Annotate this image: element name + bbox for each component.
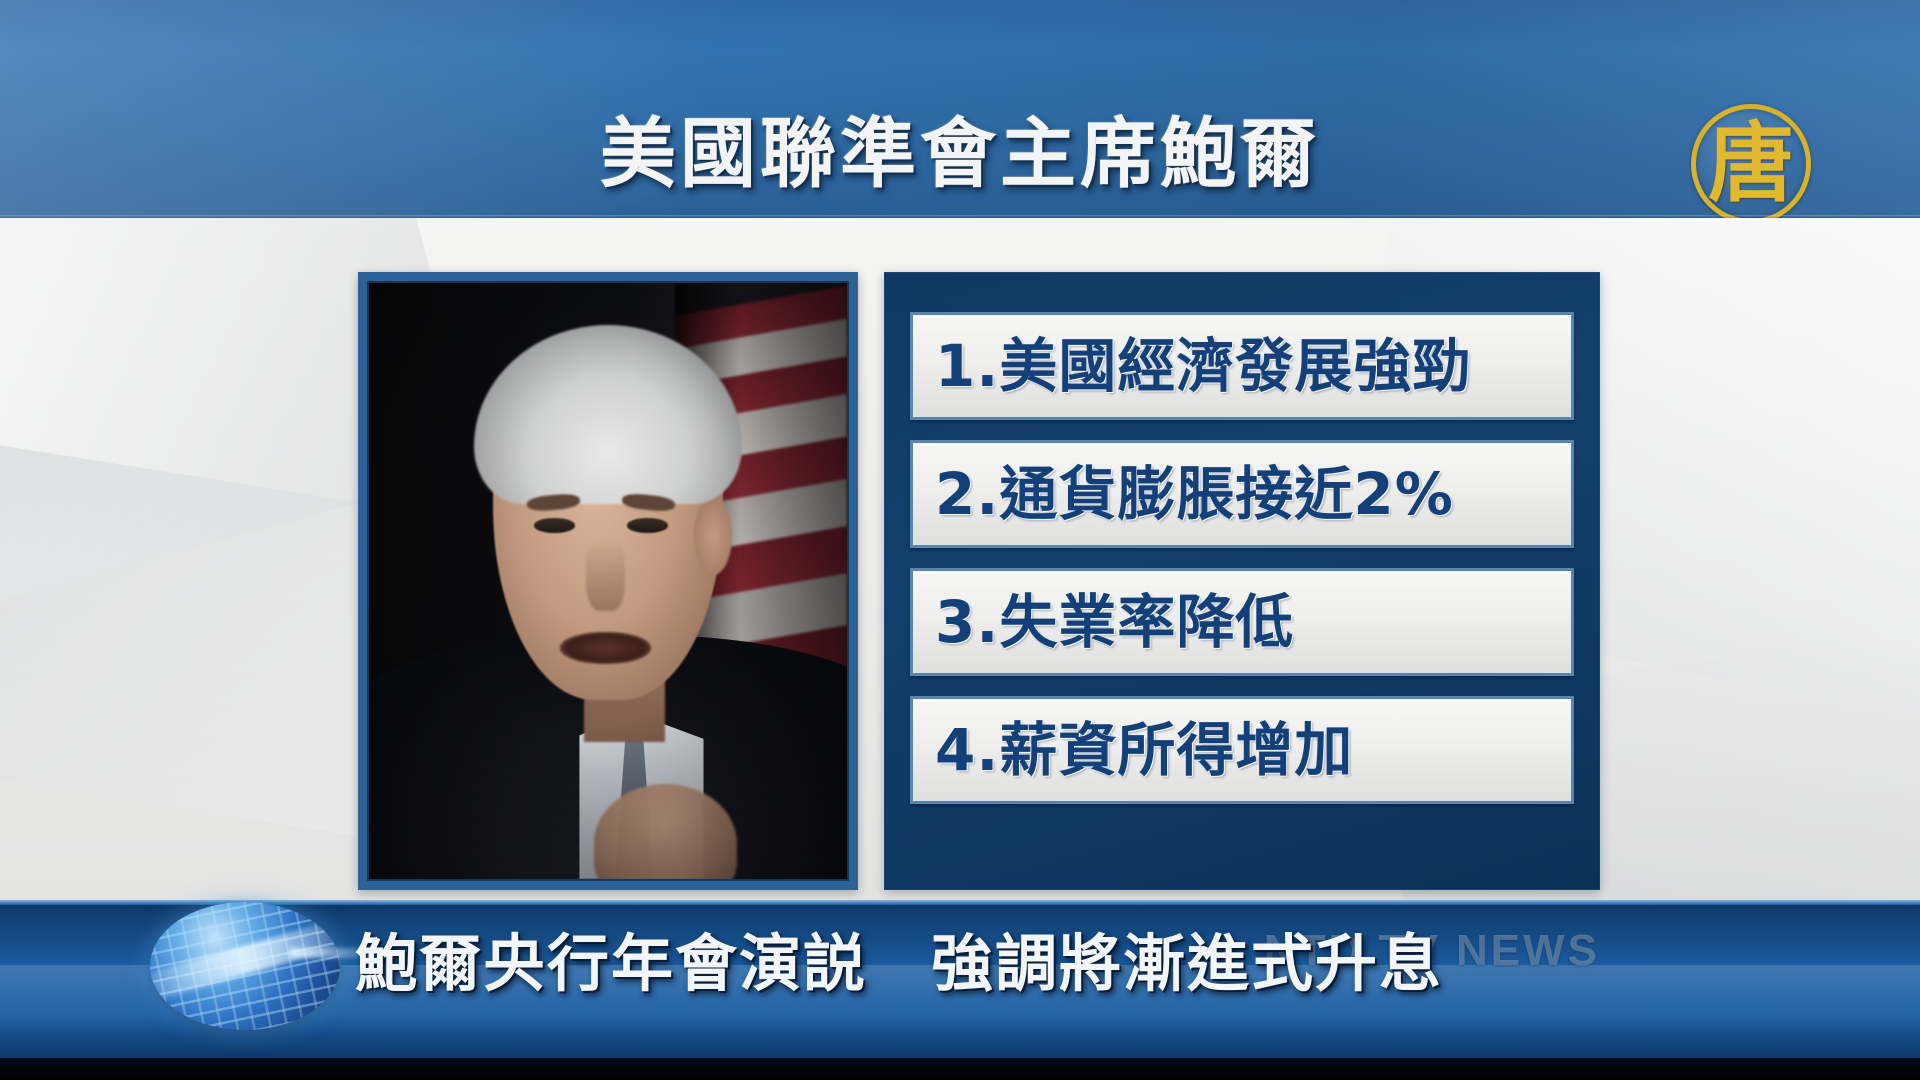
list-item-label: 3.失業率降低 [913, 593, 1294, 651]
list-item: 3.失業率降低 [910, 568, 1574, 676]
bullet-panel: 1.美國經濟發展強勁 2.通貨膨脹接近2% 3.失業率降低 4.薪資所得增加 [884, 272, 1600, 890]
list-item-label: 1.美國經濟發展強勁 [913, 337, 1471, 395]
page-title: 美國聯準會主席鮑爾 [0, 92, 1920, 202]
list-item: 4.薪資所得增加 [910, 696, 1574, 804]
header-band: 美國聯準會主席鮑爾 唐 新唐人 電視台 [0, 0, 1920, 218]
portrait-photo [367, 281, 849, 881]
broadcast-stage: 美國聯準會主席鮑爾 唐 新唐人 電視台 [0, 0, 1920, 1080]
list-item: 2.通貨膨脹接近2% [910, 440, 1574, 548]
lower-third-bar: NTD TV NEWS 鮑爾央行年會演説 強調將漸進式升息 [0, 900, 1920, 1080]
list-item-label: 4.薪資所得增加 [913, 721, 1353, 779]
list-item-label: 2.通貨膨脹接近2% [913, 465, 1454, 523]
lower-third-bottom-edge [0, 1058, 1920, 1080]
ticker-headline: 鮑爾央行年會演説 強調將漸進式升息 [355, 916, 1615, 1012]
lower-third-top-edge [0, 900, 1920, 905]
portrait-frame [358, 272, 858, 890]
photo-vignette [369, 283, 847, 879]
list-item: 1.美國經濟發展強勁 [910, 312, 1574, 420]
bullet-list: 1.美國經濟發展強勁 2.通貨膨脹接近2% 3.失業率降低 4.薪資所得增加 [910, 312, 1574, 804]
